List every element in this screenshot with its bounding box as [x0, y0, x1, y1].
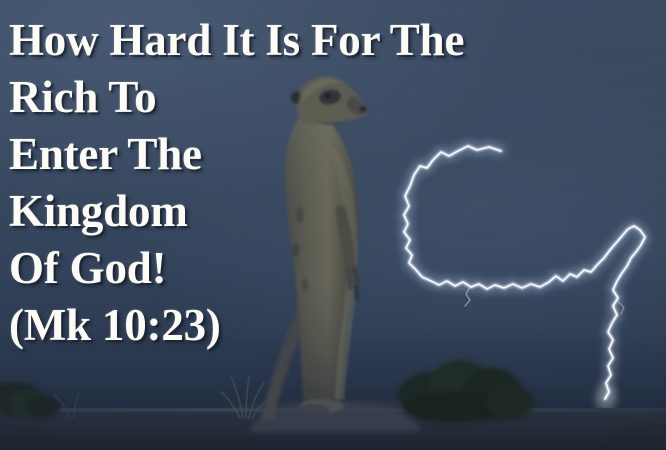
- meme-image: How Hard It Is For The Rich To Enter The…: [0, 0, 666, 450]
- caption-text: How Hard It Is For The Rich To Enter The…: [9, 12, 609, 354]
